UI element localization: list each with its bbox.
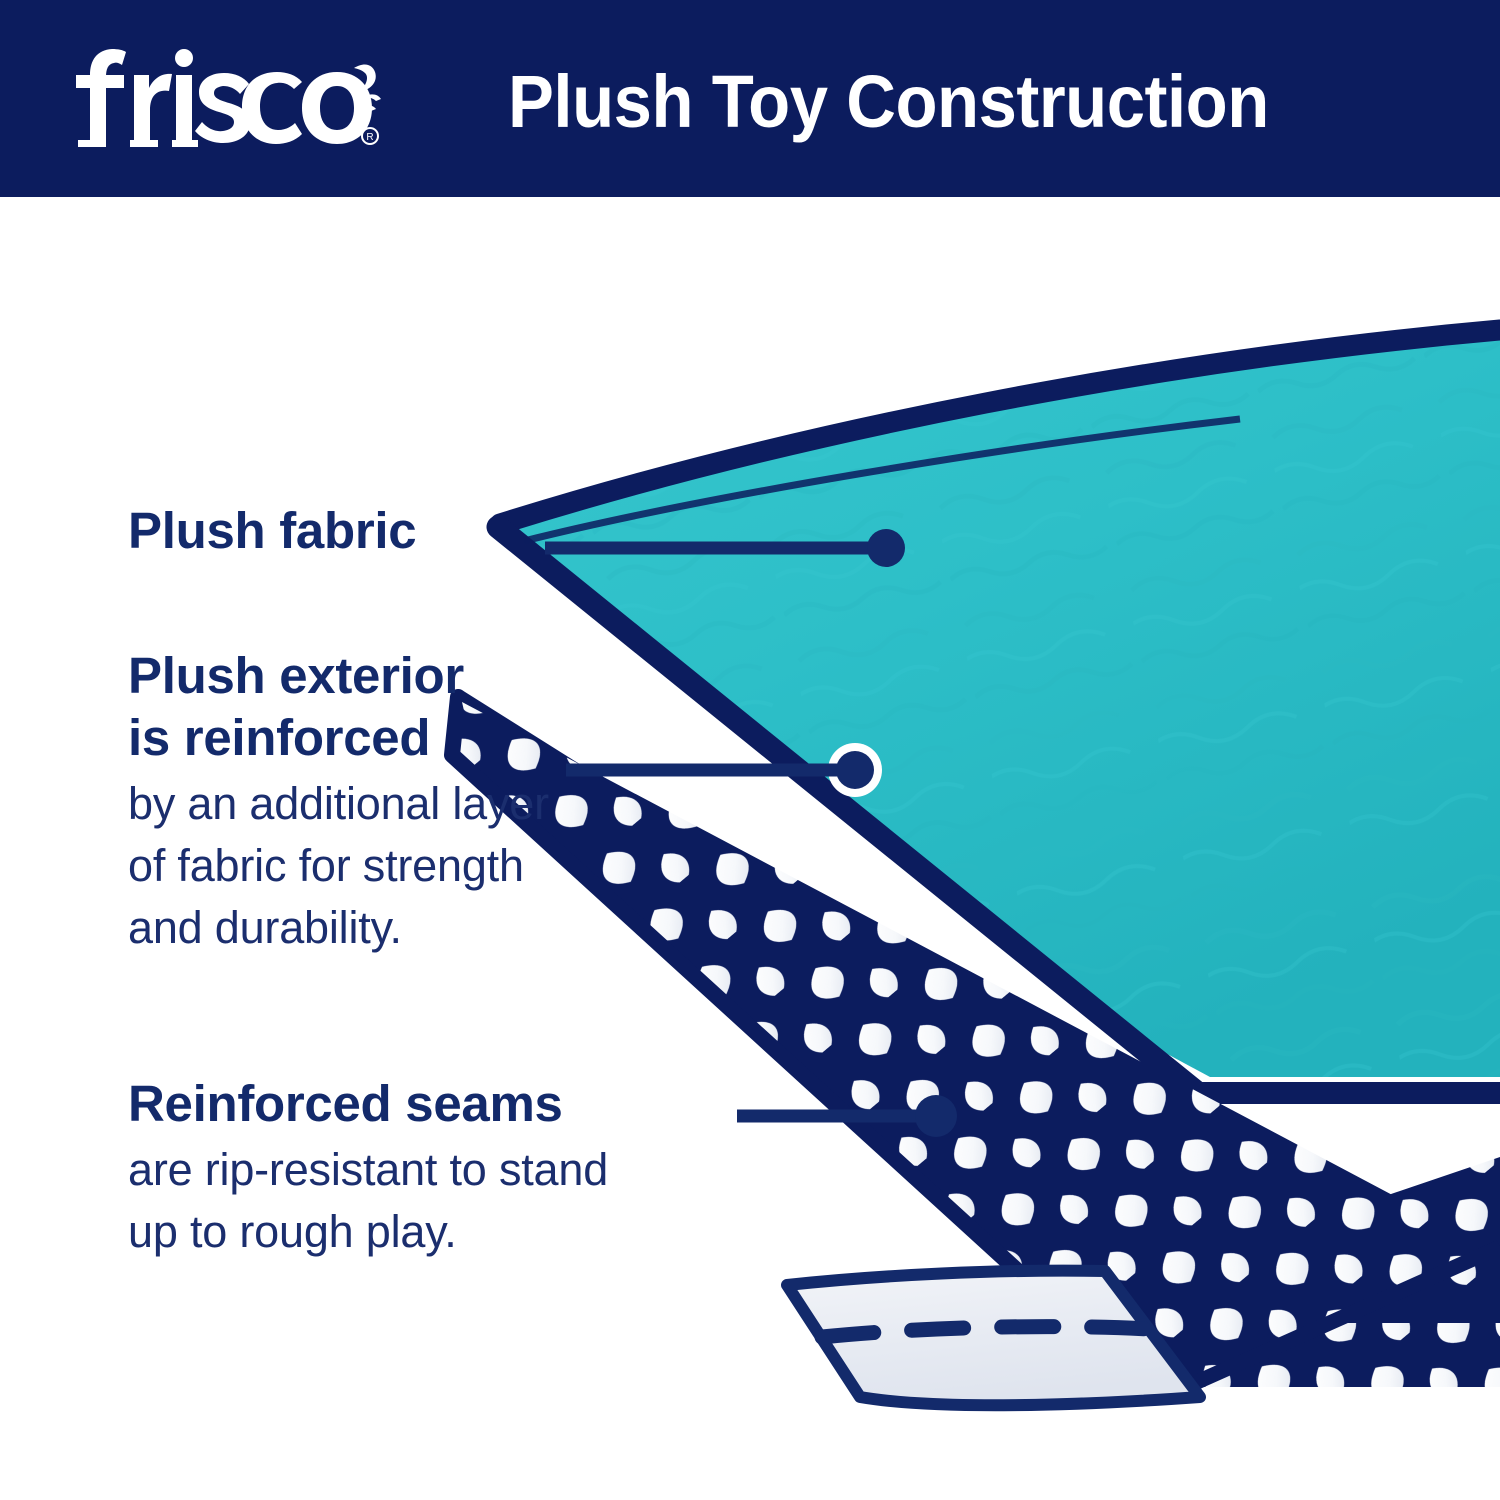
infographic-page: R Plush Toy Construction bbox=[0, 0, 1500, 1500]
callout-plush-exterior: Plush exterior is reinforced by an addit… bbox=[128, 645, 728, 959]
callout-plush-fabric: Plush fabric bbox=[128, 500, 598, 562]
callout-reinforced-seams-heading: Reinforced seams bbox=[128, 1073, 808, 1135]
page-title: Plush Toy Construction bbox=[508, 52, 1345, 152]
header-bar: R Plush Toy Construction bbox=[0, 0, 1500, 197]
callout-reinforced-seams-body: are rip-resistant to stand up to rough p… bbox=[128, 1139, 808, 1263]
callout-reinforced-seams: Reinforced seams are rip-resistant to st… bbox=[128, 1073, 808, 1263]
frisco-logo: R bbox=[72, 44, 382, 152]
callout-plush-exterior-body: by an additional layer of fabric for str… bbox=[128, 773, 728, 959]
svg-text:R: R bbox=[366, 132, 373, 143]
leader-dot-plush-fabric bbox=[867, 529, 905, 567]
leader-dot-plush-exterior bbox=[836, 751, 874, 789]
callout-plush-exterior-heading: Plush exterior is reinforced bbox=[128, 645, 728, 769]
callout-plush-fabric-heading: Plush fabric bbox=[128, 500, 598, 562]
leader-dot-reinforced-seams bbox=[915, 1095, 957, 1137]
registered-trademark-icon: R bbox=[362, 128, 378, 144]
